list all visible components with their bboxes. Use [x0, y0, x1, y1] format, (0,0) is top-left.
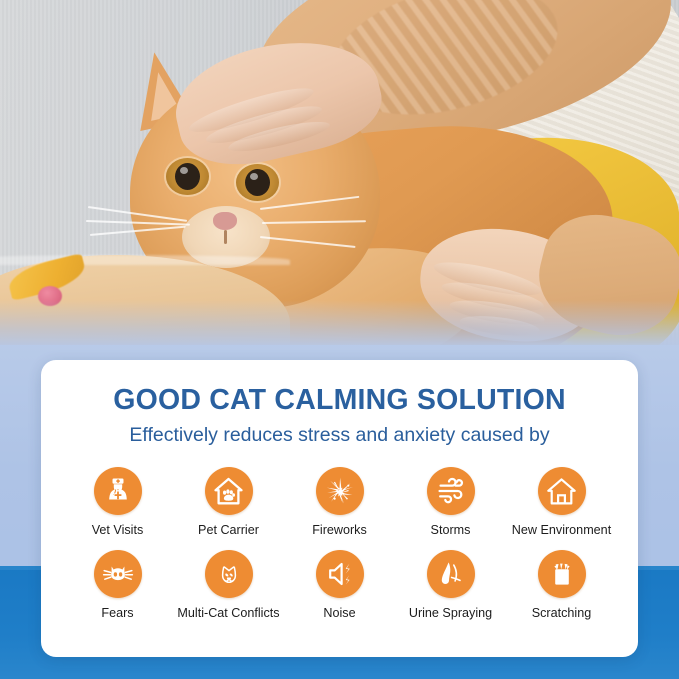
house-icon [538, 467, 586, 515]
page-title: GOOD CAT CALMING SOLUTION [41, 386, 638, 415]
benefit-label: Storms [431, 524, 471, 538]
cat-face-outline-icon [205, 550, 253, 598]
scared-cat-face-icon [94, 550, 142, 598]
benefits-row-2: Fears [51, 550, 628, 621]
benefit-item-noise[interactable]: Noise [284, 550, 395, 621]
benefit-label: Multi-Cat Conflicts [177, 607, 279, 621]
benefit-item-urine-spraying[interactable]: Urine Spraying [395, 550, 506, 621]
benefit-item-pet-carrier[interactable]: Pet Carrier [173, 467, 284, 538]
benefit-item-fireworks[interactable]: Fireworks [284, 467, 395, 538]
photo-bottom-fade [0, 300, 679, 345]
benefit-label: Scratching [532, 607, 592, 621]
hero-photo [0, 0, 679, 345]
urine-spray-icon [427, 550, 475, 598]
pet-house-paw-icon [205, 467, 253, 515]
benefit-label: Fears [101, 607, 133, 621]
benefit-label: Noise [323, 607, 355, 621]
benefit-label: Fireworks [312, 524, 367, 538]
benefits-row-1: Vet Visits [51, 467, 628, 538]
benefit-label: Urine Spraying [409, 607, 492, 621]
cat-paw-scratch-icon [538, 550, 586, 598]
benefit-item-scratching[interactable]: Scratching [506, 550, 617, 621]
benefit-label: Pet Carrier [198, 524, 259, 538]
info-card: GOOD CAT CALMING SOLUTION Effectively re… [41, 360, 638, 657]
vet-doctor-icon [94, 467, 142, 515]
benefit-item-fears[interactable]: Fears [62, 550, 173, 621]
wind-gust-icon [427, 467, 475, 515]
speaker-loud-icon [316, 550, 364, 598]
benefit-label: Vet Visits [92, 524, 144, 538]
benefit-label: New Environment [512, 524, 611, 538]
benefit-item-new-environment[interactable]: New Environment [506, 467, 617, 538]
benefit-item-multi-cat-conflicts[interactable]: Multi-Cat Conflicts [173, 550, 284, 621]
benefits-grid: Vet Visits [51, 467, 628, 621]
page-subtitle: Effectively reduces stress and anxiety c… [41, 426, 638, 446]
product-infographic: GOOD CAT CALMING SOLUTION Effectively re… [0, 0, 679, 679]
benefit-item-vet-visits[interactable]: Vet Visits [62, 467, 173, 538]
firework-burst-icon [316, 467, 364, 515]
benefit-item-storms[interactable]: Storms [395, 467, 506, 538]
